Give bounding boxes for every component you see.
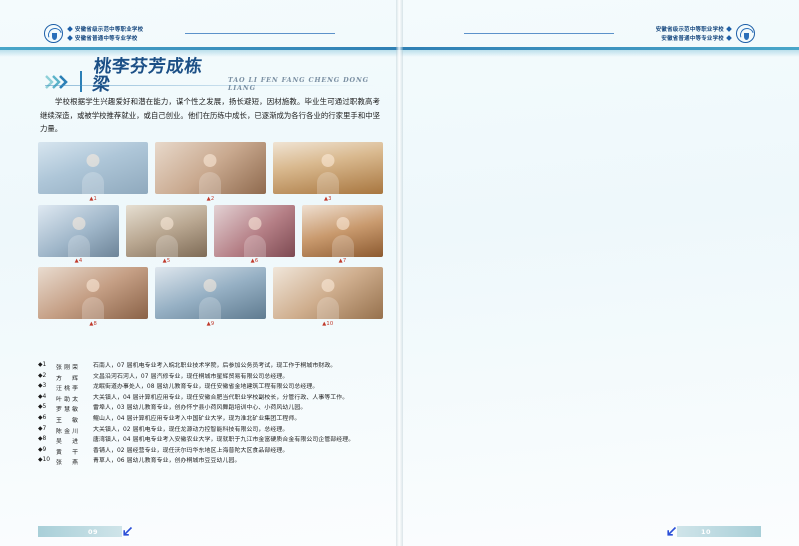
section-rule-left <box>45 85 375 86</box>
running-header-line2: 安徽省普通中等专业学校 <box>75 34 138 42</box>
photo-label: ▲8 <box>38 319 148 327</box>
list-item-number: ◆1 <box>38 362 53 368</box>
list-item-desc: 大关镇人，04 届计算机应用专业，现任安徽合肥当代职业学校副校长，分管行政、人事… <box>93 394 386 403</box>
list-item-desc: 大关镇人，02 届机电专业，现任龙源动力控智能科技有限公司，总经理。 <box>93 426 386 435</box>
page-number: 09 <box>88 528 98 536</box>
photo-label: ▲4 <box>38 257 119 265</box>
alumni-photo-5[interactable] <box>126 205 207 257</box>
photo-cell[interactable]: ▲1 <box>38 142 148 202</box>
list-item: ◆9 黄 干 香铺人，02 届经营专业，现任沃尔玛华东地区上海普陀大区食品部经理… <box>38 447 386 456</box>
photo-row: ▲4 ▲5 ▲6 ▲7 <box>38 205 383 265</box>
list-item: ◆7 陈金川 大关镇人，02 届机电专业，现任龙源动力控智能科技有限公司，总经理… <box>38 426 386 435</box>
right-page: 安徽省级示范中等职业学校 安徽省普通中等专业学校 大美校园驻幽雅 DA MEI … <box>399 0 799 546</box>
arrow-down-left-icon[interactable] <box>122 526 133 537</box>
list-item-name: 汪桃李 <box>56 383 90 392</box>
list-item: ◆6 王 敏 鲲山人，04 届计算机应用专业考入中国矿业大学，现为淮北矿业集团工… <box>38 415 386 424</box>
list-item-number: ◆4 <box>38 394 53 400</box>
list-item-desc: 雷埠人，03 届幼儿教育专业，创办怀宁县小荷风舞蹈培训中心、小荷风幼儿园。 <box>93 404 386 413</box>
footer-left: 09 <box>38 526 133 537</box>
list-item-number: ◆8 <box>38 436 53 442</box>
list-item: ◆4 叶助太 大关镇人，04 届计算机应用专业，现任安徽合肥当代职业学校副校长，… <box>38 394 386 403</box>
photo-label: ▲2 <box>155 194 265 202</box>
list-item-name: 罗慧敏 <box>56 404 90 413</box>
section-cn-title: 桃李芬芳成栋梁 <box>91 59 220 94</box>
running-header-text: 安徽省级示范中等职业学校 安徽省普通中等专业学校 <box>656 25 731 42</box>
list-item-number: ◆5 <box>38 404 53 410</box>
list-item: ◆8 吴 进 唐湾镇人，04 届机电专业考入安徽农业大学，现就职于九江市金富硬质… <box>38 436 386 445</box>
alumni-photo-4[interactable] <box>38 205 119 257</box>
running-header-left: 安徽省级示范中等职业学校 安徽省普通中等专业学校 <box>44 18 143 48</box>
page-number: 10 <box>701 528 711 536</box>
list-item-desc: 龙眠街道办事处人，08 届幼儿教育专业，现任安徽省金地建筑工程有限公司总经理。 <box>93 383 386 392</box>
photo-label: ▲10 <box>273 319 383 327</box>
arrow-down-left-icon[interactable] <box>666 526 677 537</box>
bullet-diamond-icon <box>726 35 732 41</box>
bullet-diamond-icon <box>67 26 73 32</box>
school-crest-icon <box>736 24 755 43</box>
list-item: ◆3 汪桃李 龙眠街道办事处人，08 届幼儿教育专业，现任安徽省金地建筑工程有限… <box>38 383 386 392</box>
school-crest-icon <box>44 24 63 43</box>
list-item-number: ◆6 <box>38 415 53 421</box>
alumni-photo-7[interactable] <box>302 205 383 257</box>
list-item-name: 吴 进 <box>56 436 90 445</box>
double-chevron-right-icon <box>45 74 71 94</box>
running-header-text: 安徽省级示范中等职业学校 安徽省普通中等专业学校 <box>68 25 143 42</box>
list-item: ◆5 罗慧敏 雷埠人，03 届幼儿教育专业，创办怀宁县小荷风舞蹈培训中心、小荷风… <box>38 404 386 413</box>
photo-cell[interactable]: ▲7 <box>302 205 383 265</box>
photo-cell[interactable]: ▲9 <box>155 267 265 327</box>
list-item-name: 陈金川 <box>56 426 90 435</box>
alumni-photo-2[interactable] <box>155 142 265 194</box>
list-item-number: ◆9 <box>38 447 53 453</box>
photo-cell[interactable]: ▲2 <box>155 142 265 202</box>
alumni-photo-grid: ▲1 ▲2 ▲3 ▲4 ▲5 <box>38 142 383 330</box>
photo-label: ▲1 <box>38 194 148 202</box>
list-item-name: 黄 干 <box>56 447 90 456</box>
footer-right: 10 <box>666 526 761 537</box>
photo-cell[interactable]: ▲5 <box>126 205 207 265</box>
photo-label: ▲3 <box>273 194 383 202</box>
photo-label: ▲5 <box>126 257 207 265</box>
list-item-name: 张 燕 <box>56 457 90 466</box>
list-item-name: 叶助太 <box>56 394 90 403</box>
alumni-photo-10[interactable] <box>273 267 383 319</box>
alumni-photo-1[interactable] <box>38 142 148 194</box>
list-item-desc: 石南人，07 届机电专业考入皖北职业技术学院，后参加公务员考试，现工作于桐城市财… <box>93 362 386 371</box>
list-item-desc: 鲲山人，04 届计算机应用专业考入中国矿业大学，现为淮北矿业集团工程师。 <box>93 415 386 424</box>
photo-cell[interactable]: ▲3 <box>273 142 383 202</box>
brochure-spread: 安徽省级示范中等职业学校 安徽省普通中等专业学校 桃李芬芳成栋梁 TAO LI … <box>0 0 799 546</box>
running-header-line2: 安徽省普通中等专业学校 <box>661 34 724 42</box>
footer-bar <box>677 526 761 537</box>
section-title-left: 桃李芬芳成栋梁 TAO LI FEN FANG CHENG DONG LIANG <box>45 59 399 94</box>
list-item-number: ◆3 <box>38 383 53 389</box>
list-item-desc: 唐湾镇人，04 届机电专业考入安徽农业大学，现就职于九江市金富硬质合金有限公司企… <box>93 436 386 445</box>
list-item-desc: 香铺人，02 届经营专业，现任沃尔玛华东地区上海普陀大区食品部经理。 <box>93 447 386 456</box>
photo-cell[interactable]: ▲10 <box>273 267 383 327</box>
title-divider-bar <box>80 71 82 92</box>
list-item-name: 王 敏 <box>56 415 90 424</box>
footer-bar <box>38 526 122 537</box>
photo-row: ▲1 ▲2 ▲3 <box>38 142 383 202</box>
list-item-desc: 青草人，06 届幼儿教育专业，创办桐城市豆豆幼儿园。 <box>93 457 386 466</box>
list-item-name: 张刚荣 <box>56 362 90 371</box>
alumni-photo-9[interactable] <box>155 267 265 319</box>
left-page: 安徽省级示范中等职业学校 安徽省普通中等专业学校 桃李芬芳成栋梁 TAO LI … <box>0 0 399 546</box>
left-intro-paragraph: 学校根据学生兴趣爱好和潜在能力，谋个性之发展，扬长避短，因材施教。毕业生可通过职… <box>40 95 380 136</box>
list-item-number: ◆2 <box>38 373 53 379</box>
alumni-list: ◆1 张刚荣 石南人，07 届机电专业考入皖北职业技术学院，后参加公务员考试，现… <box>38 362 386 468</box>
bullet-diamond-icon <box>726 26 732 32</box>
alumni-photo-3[interactable] <box>273 142 383 194</box>
running-header-right: 安徽省级示范中等职业学校 安徽省普通中等专业学校 <box>656 18 755 48</box>
list-item: ◆1 张刚荣 石南人，07 届机电专业考入皖北职业技术学院，后参加公务员考试，现… <box>38 362 386 371</box>
running-header-line1: 安徽省级示范中等职业学校 <box>656 25 724 33</box>
photo-row: ▲8 ▲9 ▲10 <box>38 267 383 327</box>
list-item-desc: 文昌沿河石河人，07 届汽修专业，现任桐城市星辉贸易有限公司总经理。 <box>93 373 386 382</box>
header-band-glow <box>0 50 799 57</box>
list-item: ◆10 张 燕 青草人，06 届幼儿教育专业，创办桐城市豆豆幼儿园。 <box>38 457 386 466</box>
header-rule-right <box>464 33 614 34</box>
list-item-number: ◆7 <box>38 426 53 432</box>
alumni-photo-8[interactable] <box>38 267 148 319</box>
photo-cell[interactable]: ▲4 <box>38 205 119 265</box>
photo-label: ▲9 <box>155 319 265 327</box>
list-item: ◆2 方 辉 文昌沿河石河人，07 届汽修专业，现任桐城市星辉贸易有限公司总经理… <box>38 373 386 382</box>
list-item-name: 方 辉 <box>56 373 90 382</box>
photo-label: ▲7 <box>302 257 383 265</box>
bullet-diamond-icon <box>67 35 73 41</box>
photo-cell[interactable]: ▲8 <box>38 267 148 327</box>
list-item-number: ◆10 <box>38 457 53 463</box>
photo-cell[interactable]: ▲6 <box>214 205 295 265</box>
alumni-photo-6[interactable] <box>214 205 295 257</box>
photo-label: ▲6 <box>214 257 295 265</box>
header-rule-left <box>185 33 335 34</box>
running-header-line1: 安徽省级示范中等职业学校 <box>75 25 143 33</box>
